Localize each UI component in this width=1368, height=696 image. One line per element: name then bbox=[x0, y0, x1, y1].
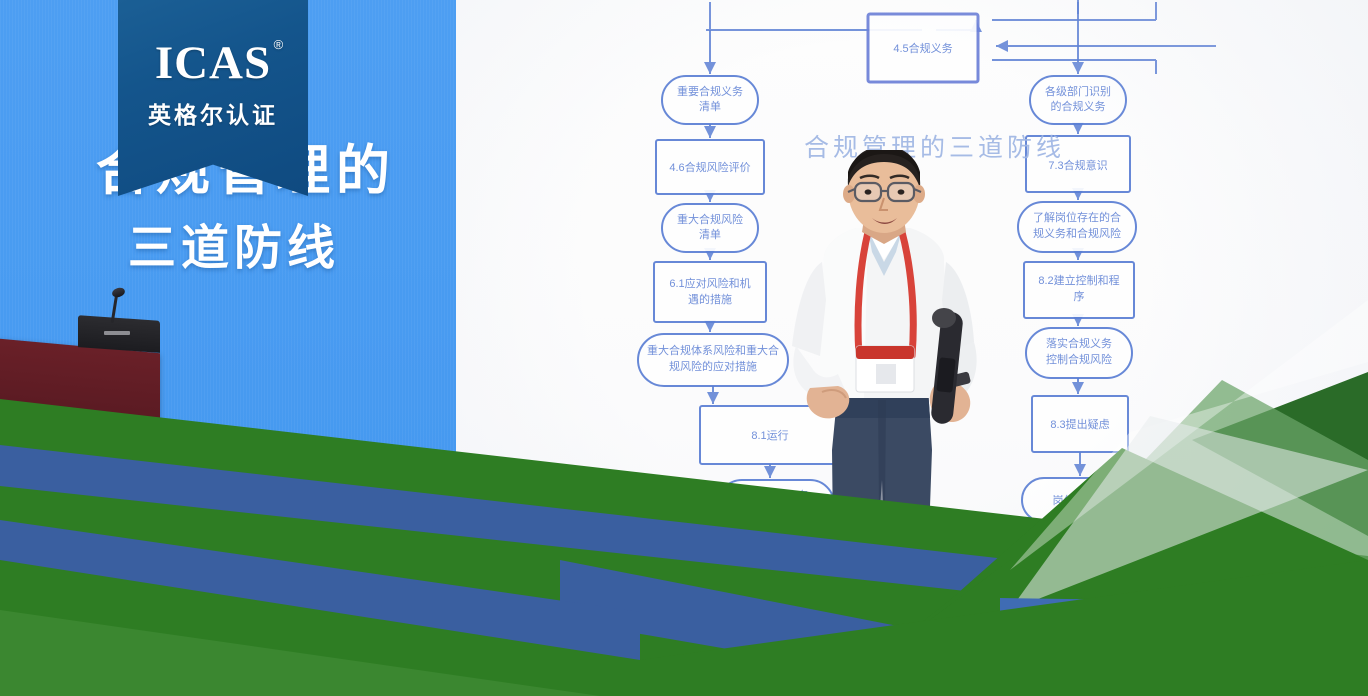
svg-text:的合规义务: 的合规义务 bbox=[1051, 99, 1106, 113]
svg-text:规风险的应对措施: 规风险的应对措施 bbox=[669, 359, 757, 373]
svg-text:4.6合规风险评价: 4.6合规风险评价 bbox=[669, 160, 750, 174]
speaker-person bbox=[760, 150, 1010, 620]
podium bbox=[0, 338, 160, 463]
svg-text:落实合规义务: 落实合规义务 bbox=[1046, 336, 1112, 350]
icas-chinese-name: 英格尔认证 bbox=[148, 96, 278, 130]
icas-brand-text: ICAS bbox=[155, 37, 271, 89]
svg-text:4.5合规义务: 4.5合规义务 bbox=[893, 41, 952, 55]
banner-content: ICAS® 英格尔认证 bbox=[118, 0, 308, 196]
svg-text:重要合规义务: 重要合规义务 bbox=[677, 84, 743, 98]
audience-head bbox=[1000, 540, 1072, 598]
svg-text:清单: 清单 bbox=[699, 228, 721, 241]
svg-text:序: 序 bbox=[1074, 289, 1085, 303]
svg-text:8.2建立控制和程: 8.2建立控制和程 bbox=[1038, 273, 1119, 287]
audience-head bbox=[619, 534, 697, 596]
svg-text:清单: 清单 bbox=[699, 100, 721, 113]
svg-text:了解岗位存在的合: 了解岗位存在的合 bbox=[1033, 210, 1121, 224]
svg-text:控制合规风险: 控制合规风险 bbox=[1046, 352, 1112, 366]
svg-text:重大合规风险: 重大合规风险 bbox=[677, 212, 743, 226]
icas-wordmark: ICAS® bbox=[155, 40, 271, 87]
presentation-photo: 4.5合规义务 重要合规义务清单 4.6合规风险评价 重大合规风险清单 6.1应… bbox=[0, 0, 1368, 696]
wall-headline-line2: 三道防线 bbox=[128, 208, 340, 278]
svg-text:8.3提出疑虑: 8.3提出疑虑 bbox=[1050, 417, 1109, 431]
icas-logo-banner: ICAS® 英格尔认证 bbox=[118, 0, 308, 196]
svg-text:遇的措施: 遇的措施 bbox=[688, 292, 732, 306]
podium-plate bbox=[104, 331, 130, 335]
svg-text:各级部门识别: 各级部门识别 bbox=[1045, 84, 1111, 98]
svg-text:6.1应对风险和机: 6.1应对风险和机 bbox=[669, 276, 750, 290]
svg-text:岗位不合规: 岗位不合规 bbox=[1053, 493, 1108, 507]
svg-text:规义务和合规风险: 规义务和合规风险 bbox=[1033, 226, 1121, 240]
registered-mark-icon: ® bbox=[274, 38, 285, 51]
